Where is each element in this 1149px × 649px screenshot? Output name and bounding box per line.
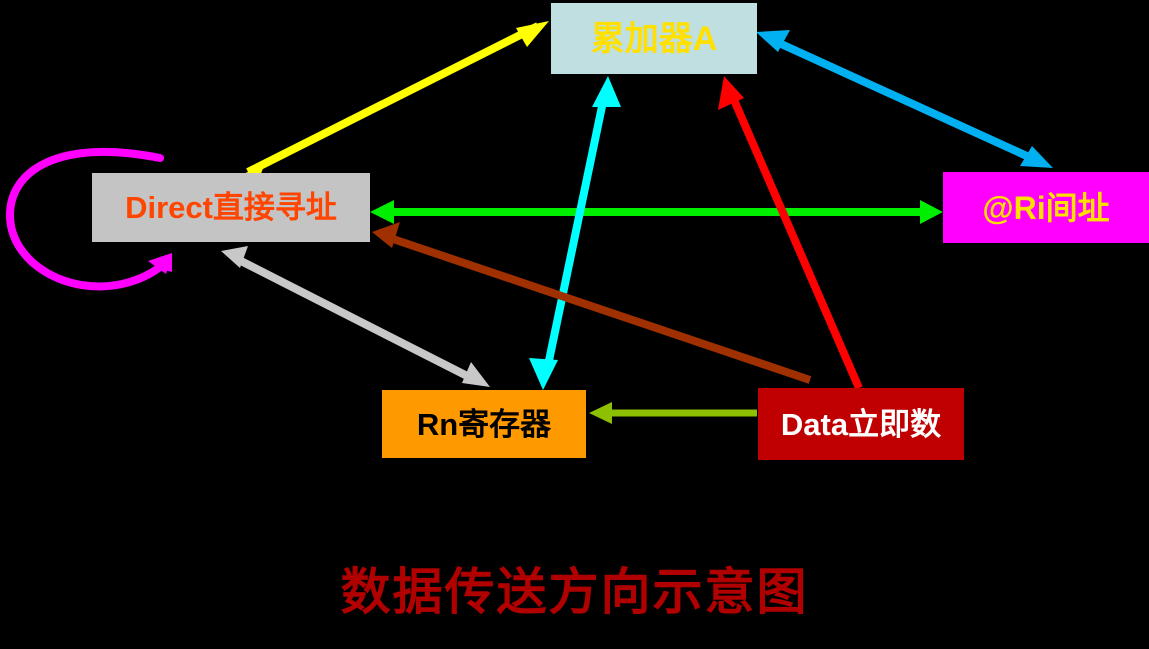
node-immediate-data[interactable]: Data立即数 bbox=[758, 388, 964, 460]
edge-immediate-direct bbox=[372, 222, 810, 380]
edge-direct-register bbox=[221, 246, 490, 387]
node-register-label: Rn寄存器 bbox=[417, 409, 551, 440]
diagram-title: 数据传送方向示意图 bbox=[0, 552, 1149, 624]
node-accumulator-label: 累加器A bbox=[591, 22, 718, 56]
edge-immediate-accumulator bbox=[718, 76, 859, 388]
node-direct-addressing[interactable]: Direct直接寻址 bbox=[92, 173, 370, 242]
edge-immediate-register bbox=[589, 402, 757, 424]
node-indirect-addressing[interactable]: @Ri间址 bbox=[943, 172, 1149, 243]
edge-register-accumulator bbox=[529, 76, 621, 390]
edge-accumulator-indirect bbox=[756, 30, 1053, 168]
node-accumulator[interactable]: 累加器A bbox=[551, 3, 757, 74]
node-register[interactable]: Rn寄存器 bbox=[382, 390, 586, 458]
edge-direct-accumulator bbox=[232, 21, 549, 186]
node-immediate-data-label: Data立即数 bbox=[781, 409, 941, 440]
diagram-canvas: 累加器A Direct直接寻址 @Ri间址 Rn寄存器 Data立即数 数据传送… bbox=[0, 0, 1149, 649]
node-indirect-addressing-label: @Ri间址 bbox=[982, 192, 1109, 224]
edge-direct-indirect bbox=[370, 200, 943, 224]
node-direct-addressing-label: Direct直接寻址 bbox=[125, 192, 337, 223]
